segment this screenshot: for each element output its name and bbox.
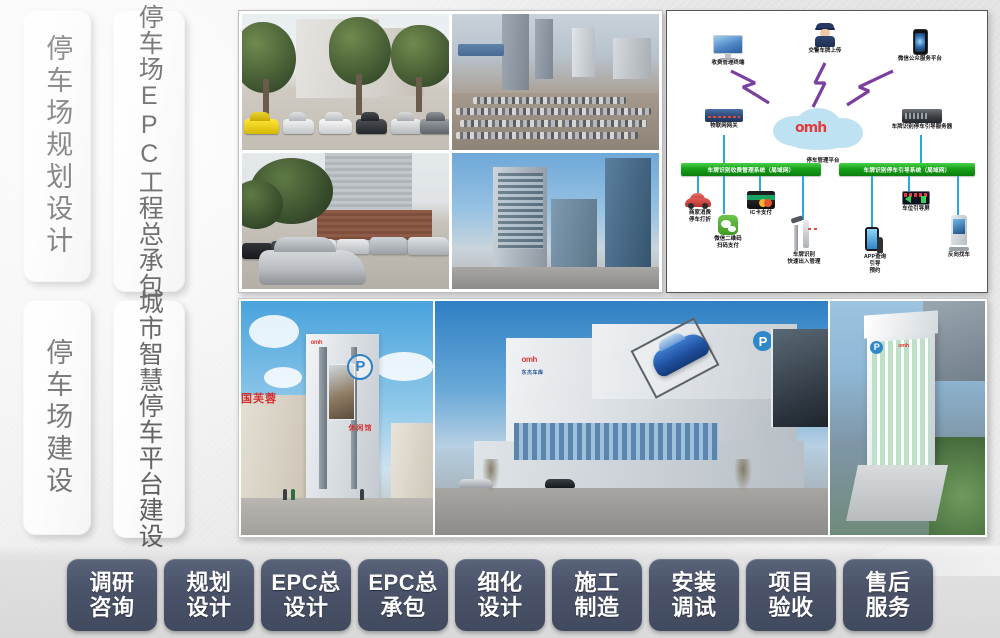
system-bar-plate-toll-management-system[interactable]: 车牌识别收费管理系统（局域网） [681, 163, 821, 176]
tab-label: 安装 调试 [671, 570, 716, 620]
photo-office-tower-street[interactable] [452, 153, 659, 289]
node-label: APP查询 引导 预约 [852, 254, 898, 274]
render-sign-right: 休闲馆 [349, 423, 373, 433]
node-toll-management-terminal[interactable]: 收费管理终端 [697, 35, 759, 67]
render-sign-left: 国芙蓉 [241, 390, 277, 406]
side-card-parking-epc-general-contracting[interactable]: 停车场EPC工程总承包 [113, 10, 185, 292]
node-label: 微信二维码 扫码支付 [705, 236, 751, 250]
node-parking-space-guidance-screen[interactable]: 车位引导屏 [894, 191, 938, 213]
process-tab-epc-general-design[interactable]: EPC总 设计 [261, 559, 351, 631]
link-server-to-guidance-system [920, 135, 922, 163]
drop-line [723, 176, 725, 214]
node-label: 车牌识别 快速出入管理 [781, 252, 827, 266]
led-screen-icon [902, 191, 930, 205]
wechat-icon [718, 215, 738, 235]
tab-label: 施工 制造 [574, 570, 619, 620]
process-tab-epc-general-contracting[interactable]: EPC总 承包 [358, 559, 448, 631]
drop-line [802, 176, 804, 220]
drop-line [957, 176, 959, 218]
node-ic-card-payment[interactable]: IC卡支付 [741, 191, 781, 217]
node-label: 车位引导屏 [894, 206, 938, 213]
process-tab-construction-manufacturing[interactable]: 施工 制造 [552, 559, 642, 631]
side-card-label: 城市智慧停车平台建设 [136, 289, 163, 549]
drop-line [871, 176, 873, 230]
app-phone-icon [865, 227, 881, 253]
parking-p-badge: P [347, 354, 373, 380]
node-reverse-car-finding[interactable]: 反向找车 [938, 215, 980, 259]
system-bar-plate-parking-guidance-system[interactable]: 车牌识别停车引导系统（局域网） [839, 163, 975, 176]
monitor-icon [713, 35, 743, 59]
process-tab-project-acceptance[interactable]: 项目 验收 [746, 559, 836, 631]
node-plate-recognition-guidance-server[interactable]: 车牌识别停车引导服务器 [875, 109, 969, 131]
render-garage-building[interactable]: P omh 东杰车库 [435, 301, 828, 535]
parking-p-badge: P [870, 341, 883, 354]
project-photo-grid [238, 10, 663, 293]
process-tab-detailed-design[interactable]: 细化 设计 [455, 559, 545, 631]
node-label: 车牌识别停车引导服务器 [875, 124, 969, 131]
project-render-strip: omh P 国芙蓉 休闲馆 P omh 东杰车库 P omh [238, 298, 988, 538]
node-label: 收费管理终端 [697, 60, 759, 67]
tab-label: 售后 服务 [865, 570, 910, 620]
tab-label: 项目 验收 [768, 570, 813, 620]
red-car-icon [685, 193, 711, 209]
drop-line [908, 176, 910, 192]
cloud-platform-icon: omh [767, 106, 877, 154]
photo-lot-with-brick-building[interactable] [242, 153, 449, 289]
ic-card-icon [747, 191, 775, 209]
render-aerial-tower[interactable]: P omh [830, 301, 985, 535]
process-tab-after-sales-service[interactable]: 售后 服务 [843, 559, 933, 631]
node-plate-fast-entry-exit[interactable]: 车牌识别 快速出入管理 [781, 217, 827, 266]
tab-label: 细化 设计 [477, 570, 522, 620]
node-label: 交警车牌上传 [798, 48, 852, 55]
system-bar-label: 车牌识别停车引导系统（局域网） [864, 166, 951, 174]
system-bar-label: 车牌识别收费管理系统（局域网） [708, 166, 795, 174]
omh-brand-label: omh [311, 340, 322, 346]
node-label: 反向找车 [938, 252, 980, 259]
side-card-parking-construction[interactable]: 停车场建设 [23, 300, 91, 535]
kiosk-icon [951, 215, 967, 251]
side-card-label: 停车场EPC工程总承包 [136, 4, 163, 299]
render-parking-tower-street[interactable]: omh P 国芙蓉 休闲馆 [241, 301, 433, 535]
omh-logo: omh [795, 120, 826, 136]
node-traffic-police-plate-upload[interactable]: 交警车牌上传 [798, 23, 852, 55]
node-wechat-public-service-platform[interactable]: 微信公众服务平台 [885, 29, 955, 63]
link-bolt-police-cloud [807, 61, 837, 111]
smart-parking-architecture-diagram: omh 停车管理平台 收费管理终端 交警车牌上传 微信公众服务平台 物联网网关 … [666, 10, 988, 293]
tab-label: EPC总 设计 [271, 570, 340, 620]
node-app-query-guidance-booking[interactable]: APP查询 引导 预约 [852, 227, 894, 274]
process-tab-installation-commissioning[interactable]: 安装 调试 [649, 559, 739, 631]
omh-brand-label: omh [898, 343, 909, 349]
omh-brand-sub-label: 东杰车库 [521, 369, 543, 376]
tab-label: EPC总 承包 [368, 570, 437, 620]
smartphone-icon [913, 29, 928, 55]
side-card-parking-planning-design[interactable]: 停车场规划设计 [23, 10, 91, 282]
link-bolt-cloud-wechat [843, 67, 901, 111]
side-card-label: 停车场建设 [43, 338, 72, 498]
server-icon [902, 109, 942, 123]
tab-label: 调研 咨询 [89, 570, 134, 620]
police-officer-icon [814, 23, 836, 47]
node-label: 微信公众服务平台 [885, 56, 955, 63]
side-card-label: 停车场规划设计 [43, 34, 72, 258]
process-tab-research-consulting[interactable]: 调研 咨询 [67, 559, 157, 631]
photo-ground-parking-lot[interactable] [242, 14, 449, 150]
link-bolt-gateway-cloud [709, 85, 773, 129]
photo-aerial-city-parking[interactable] [452, 14, 659, 150]
process-tab-bar: 调研 咨询 规划 设计 EPC总 设计 EPC总 承包 细化 设计 施工 制造 … [0, 552, 1000, 638]
omh-brand-label: omh [521, 355, 536, 364]
barrier-gate-icon [791, 217, 817, 251]
side-card-smart-city-parking-platform[interactable]: 城市智慧停车平台建设 [113, 300, 185, 538]
tab-label: 规划 设计 [186, 570, 231, 620]
node-wechat-qr-payment[interactable]: 微信二维码 扫码支付 [705, 215, 751, 250]
process-tab-planning-design[interactable]: 规划 设计 [164, 559, 254, 631]
link-gateway-to-toll-system [723, 135, 725, 163]
